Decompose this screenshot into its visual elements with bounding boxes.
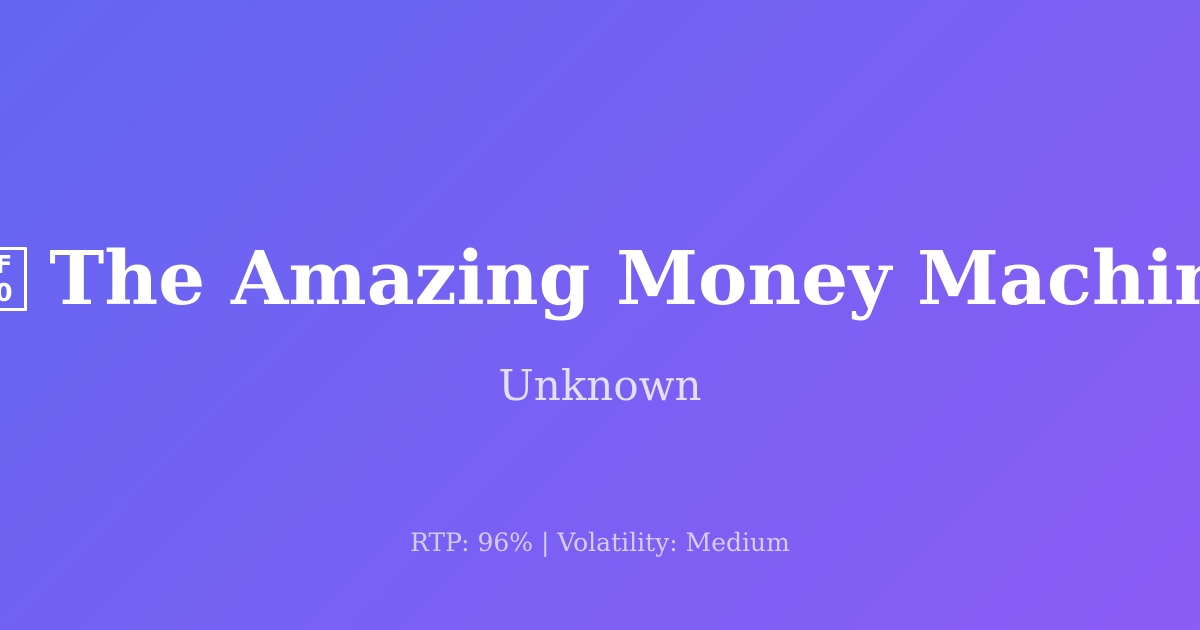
og-share-card: F 0 The Amazing Money Machine Unknown RT… [0, 0, 1200, 630]
game-meta-line: RTP: 96% | Volatility: Medium [0, 528, 1200, 558]
title-line: F 0 The Amazing Money Machine [0, 242, 1200, 316]
title-row: F 0 The Amazing Money Machine [0, 223, 1200, 335]
slot-machine-emoji-icon: F 0 [0, 247, 27, 311]
tofu-hex-bottom: 0 [0, 280, 24, 306]
page-title: The Amazing Money Machine [49, 242, 1200, 316]
subtitle: Unknown [0, 360, 1200, 412]
tofu-hex-top: F [0, 252, 24, 278]
